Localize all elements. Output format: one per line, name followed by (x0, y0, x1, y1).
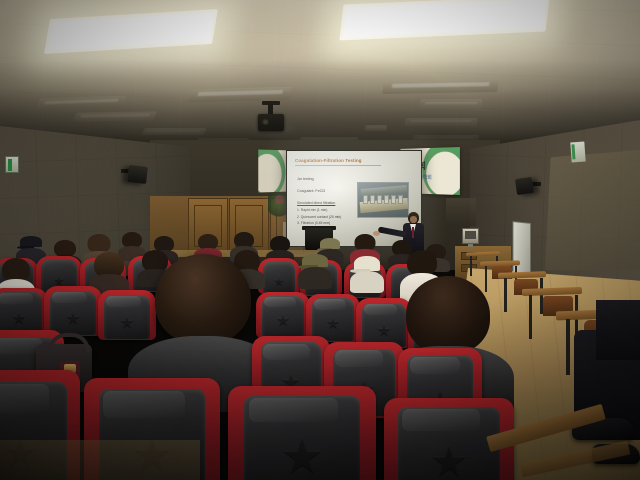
seat-star-emblem: ★ (326, 316, 340, 332)
white-cap (354, 256, 380, 271)
seat-star-emblem: ★ (119, 313, 134, 330)
seat-highlight (335, 350, 383, 367)
slide-title: Coagulation-Filtration Testing (295, 158, 362, 163)
auditorium-seat[interactable]: ★ (306, 294, 360, 342)
jar-beaker (384, 195, 389, 204)
jar-beaker (391, 195, 396, 204)
right-wall-panel (545, 150, 640, 270)
desk-leg (504, 278, 507, 312)
presenter-tie (412, 227, 414, 238)
shoulders (350, 271, 384, 293)
speaker-icon-left (127, 165, 148, 184)
seat-star-emblem: ★ (280, 431, 325, 480)
seat-star-emblem: ★ (65, 309, 80, 326)
slide-line-2: Coagulant: FeCl3 (297, 189, 325, 193)
seat-highlight (249, 398, 338, 422)
seat-highlight (364, 304, 398, 315)
baseball-cap (320, 238, 340, 249)
trouser-leg (596, 300, 640, 360)
seat-highlight (106, 296, 141, 307)
slide-line-1: Jar testing (297, 177, 314, 181)
desk-leg (529, 295, 532, 339)
olive-cap (302, 254, 328, 267)
slide-list-item-3: 3. Filtration (0.45 mm) (297, 221, 330, 225)
auditorium-seat-foreground[interactable]: ★ (228, 386, 376, 480)
slide-line-3: Simulated direct filtration (297, 201, 335, 205)
head (155, 254, 251, 344)
floor-foreground (0, 440, 200, 480)
audience-member (300, 254, 330, 292)
seat-star-emblem: ★ (276, 313, 290, 329)
audience-member (352, 256, 382, 294)
seat-star-emblem: ★ (376, 321, 391, 338)
seat-highlight (0, 384, 49, 413)
lecture-hall-photo: 술대회 한국수자원학회 Coagulation-Filtration Testi… (0, 0, 640, 480)
jar-beaker (398, 195, 403, 204)
seat-back-shell: ★ (263, 261, 296, 293)
jar-beaker (370, 195, 375, 204)
monitor-screen (465, 231, 476, 239)
back-wall-board (446, 198, 476, 226)
jar-beaker (363, 195, 368, 204)
desk-leg (470, 256, 472, 276)
seat-star-emblem: ★ (274, 275, 285, 287)
speaker-icon-right (515, 177, 534, 195)
seat-highlight (264, 297, 296, 307)
seat-star-emblem: ★ (429, 440, 468, 480)
seat-highlight (103, 391, 185, 417)
computer-monitor[interactable] (462, 228, 479, 244)
seat-highlight (263, 344, 310, 360)
auditorium-seat[interactable]: ★ (256, 292, 310, 338)
seat-highlight (52, 292, 87, 303)
head (406, 276, 490, 354)
slide-list-item-2: 2. Quiescent contact (20 min) (297, 215, 341, 219)
seat-star-emblem: ★ (53, 274, 65, 287)
exit-sign-icon (5, 156, 19, 173)
wall-sign-right (570, 142, 585, 163)
presenter-face (410, 216, 417, 223)
handbag-handle (48, 333, 90, 353)
slide-title-underline (295, 165, 381, 166)
desk-leg (566, 319, 570, 375)
baseball-cap (20, 236, 42, 247)
shoulders (298, 267, 332, 289)
jar-beaker (377, 195, 382, 204)
wall-sign-stripe (571, 144, 575, 159)
seat-star-emblem: ★ (11, 310, 26, 327)
seat-highlight (0, 293, 33, 304)
exit-sign-glow (8, 159, 12, 171)
wreath-flower (275, 195, 284, 204)
seat-highlight (410, 357, 460, 375)
auditorium-seat[interactable]: ★ (44, 286, 102, 336)
seat-highlight (402, 409, 480, 431)
auditorium-seat[interactable]: ★ (0, 288, 48, 336)
slide-list-item-1: 1. Rapid mix (1 min) (297, 208, 327, 212)
seat-highlight (314, 299, 346, 310)
